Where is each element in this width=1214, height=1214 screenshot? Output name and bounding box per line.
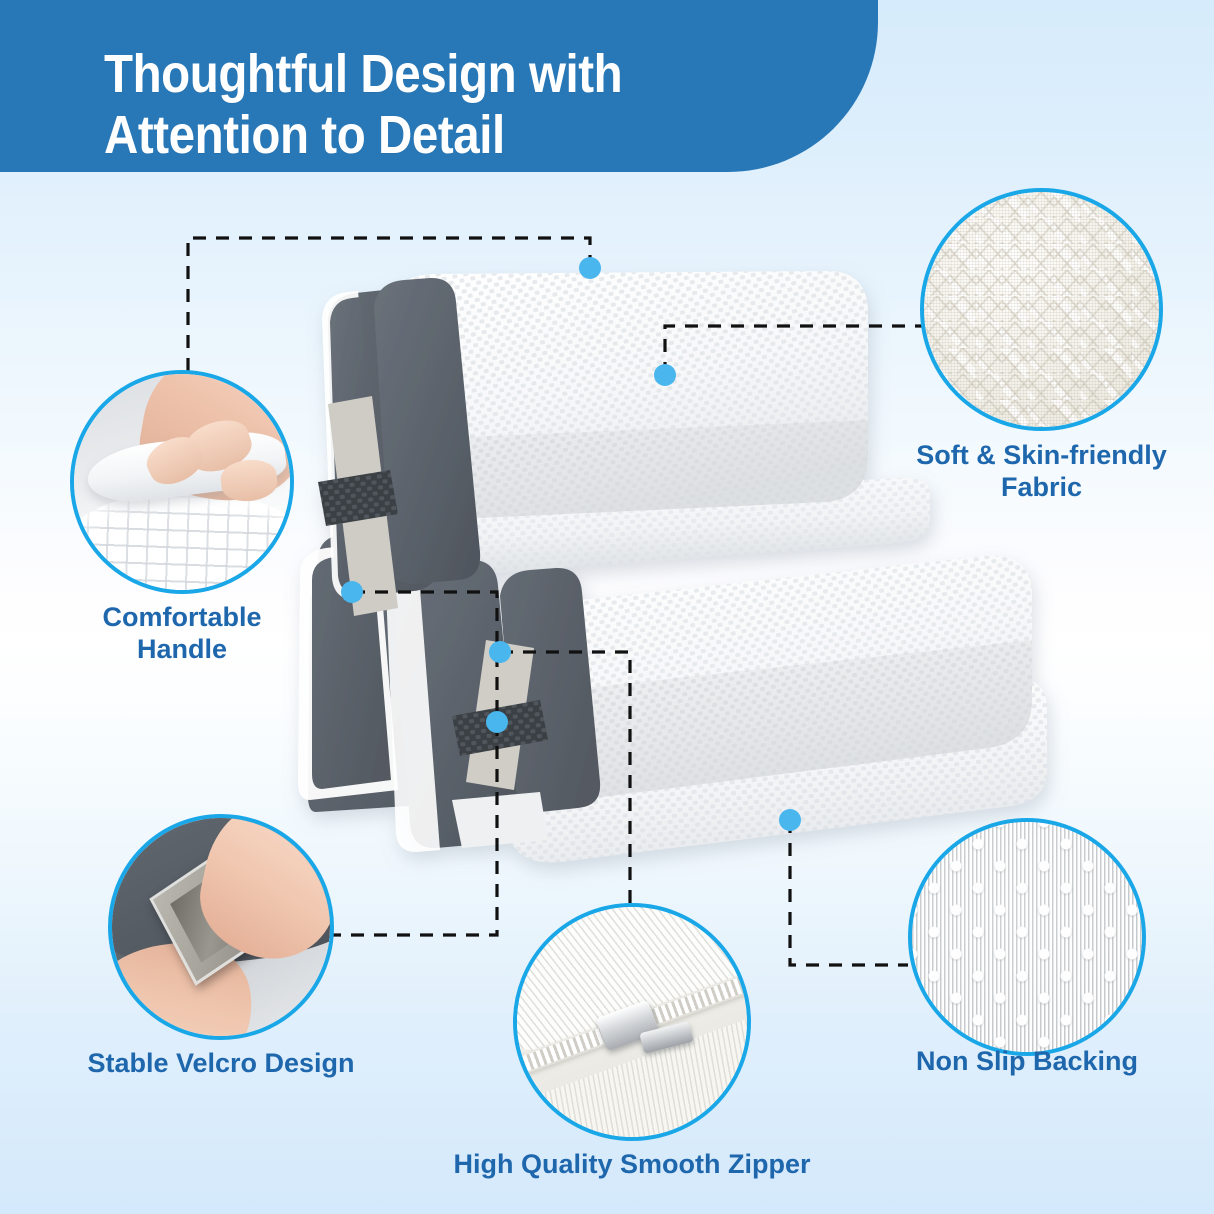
connector-non-slip bbox=[790, 820, 908, 965]
callout-soft-skin-friendly-fabric: Soft & Skin-friendly Fabric bbox=[920, 188, 1163, 431]
callout-non-slip-backing: Non Slip Backing bbox=[908, 818, 1146, 1056]
marker-dot-zipper bbox=[489, 641, 511, 663]
hand-lifting-fabric-handle-photo bbox=[74, 374, 290, 590]
infographic-canvas: Thoughtful Design with Attention to Deta… bbox=[0, 0, 1214, 1214]
marker-dot-non-slip bbox=[779, 809, 801, 831]
callout-image-soft-fabric bbox=[920, 188, 1163, 431]
callout-image-non-slip bbox=[908, 818, 1146, 1056]
white-zipper-with-metal-pull-photo bbox=[517, 907, 747, 1137]
callout-label-stable-velcro: Stable Velcro Design bbox=[11, 1048, 431, 1080]
marker-dot-soft-fabric-top bbox=[579, 257, 601, 279]
callout-label-soft-fabric: Soft & Skin-friendly Fabric bbox=[832, 440, 1214, 504]
hand-holding-velcro-patch-photo bbox=[112, 818, 330, 1036]
callout-comfortable-handle: Comfortable Handle bbox=[70, 370, 294, 594]
connector-zipper bbox=[500, 652, 630, 905]
callout-image-zipper bbox=[513, 903, 751, 1141]
callout-label-comfortable-handle: Comfortable Handle bbox=[0, 602, 392, 666]
connector-comfortable-handle bbox=[188, 238, 590, 372]
striped-fabric-with-silicone-dots bbox=[912, 822, 1142, 1052]
callout-label-zipper: High Quality Smooth Zipper bbox=[422, 1149, 842, 1181]
callout-high-quality-smooth-zipper: High Quality Smooth Zipper bbox=[513, 903, 751, 1141]
marker-dot-soft-fabric bbox=[654, 364, 676, 386]
pillow-surface bbox=[74, 495, 290, 590]
callout-image-stable-velcro bbox=[108, 814, 334, 1040]
marker-dot-stable-velcro bbox=[486, 711, 508, 733]
callout-label-non-slip: Non Slip Backing bbox=[817, 1046, 1214, 1078]
page-title: Thoughtful Design with Attention to Deta… bbox=[104, 44, 808, 166]
callout-image-comfortable-handle bbox=[70, 370, 294, 594]
quilted-zigzag-fabric-texture bbox=[924, 192, 1159, 427]
connector-soft-fabric bbox=[665, 326, 924, 375]
callout-stable-velcro-design: Stable Velcro Design bbox=[108, 814, 334, 1040]
marker-dot-comfortable-handle bbox=[341, 581, 363, 603]
